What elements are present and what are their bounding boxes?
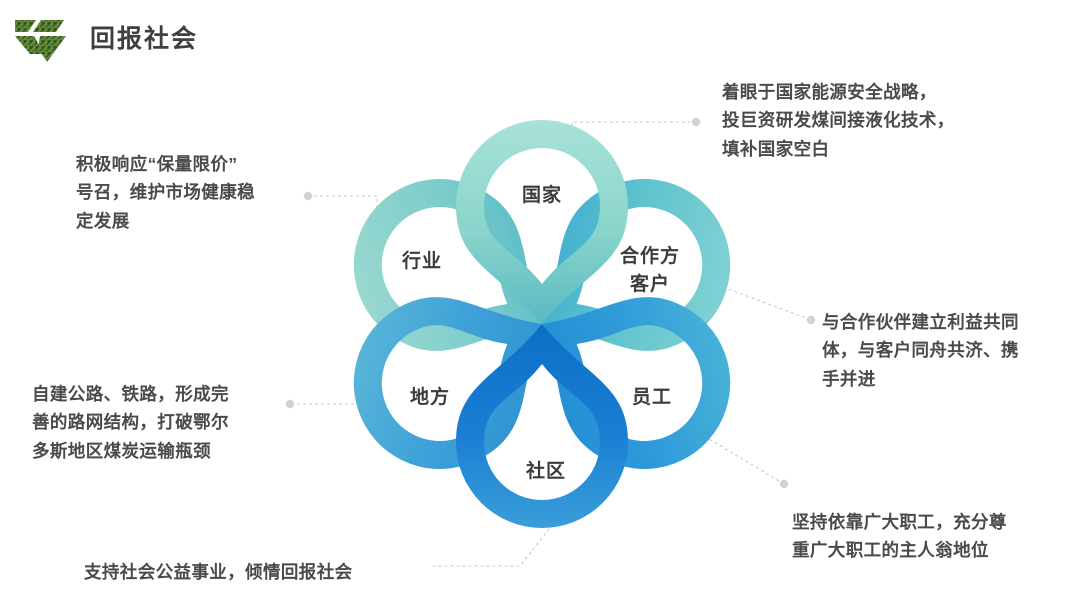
petal-label-industry: 行业 [384, 248, 460, 276]
petal-country[interactable] [456, 120, 628, 324]
page-header: 回报社会 [14, 14, 198, 64]
petal-label-employee: 员工 [614, 384, 690, 412]
stakeholder-flower-diagram: 国家 合作方 客户 员工 社区 地方 行业 [322, 96, 762, 546]
callout-text-industry: 积极响应“保量限价” 号召，维护市场健康稳 定发展 [76, 150, 312, 235]
page-title: 回报社会 [90, 27, 198, 52]
petal-label-partner: 合作方 客户 [604, 243, 696, 298]
petal-label-country: 国家 [497, 182, 587, 210]
callout-text-community: 支持社会公益事业，倾情回报社会 [84, 558, 504, 586]
petal-community[interactable] [456, 324, 628, 528]
petal-label-community: 社区 [508, 458, 584, 486]
petal-label-local: 地方 [392, 384, 468, 412]
callout-text-employee: 坚持依靠广大职工，充分尊 重广大职工的主人翁地位 [792, 508, 1072, 565]
connector-dot-employee [780, 480, 788, 488]
callout-text-country: 着眼于国家能源安全战略， 投巨资研发煤间接液化技术， 填补国家空白 [722, 78, 1022, 163]
connector-dot-partner [807, 316, 815, 324]
callout-text-local: 自建公路、铁路，形成完 善的路网结构，打破鄂尔 多斯地区煤炭运输瓶颈 [32, 380, 292, 465]
company-logo-icon [14, 14, 76, 64]
callout-text-partner: 与合作伙伴建立利益共同 体，与客户同舟共济、携 手并进 [822, 308, 1072, 393]
